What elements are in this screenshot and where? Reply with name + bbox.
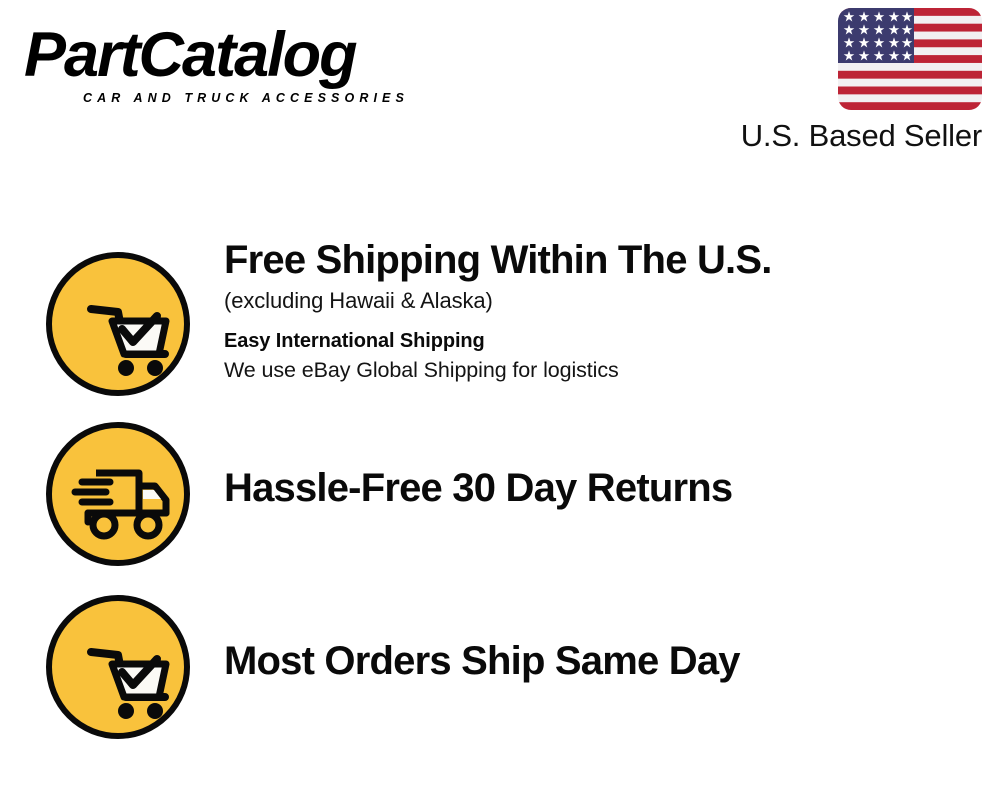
shopping-cart-check-icon [44,250,192,398]
us-flag-icon [838,8,982,110]
feature-note: (excluding Hawaii & Alaska) [224,286,980,316]
feature-title: Hassle-Free 30 Day Returns [224,464,980,512]
feature-detail: We use eBay Global Shipping for logistic… [224,356,980,385]
feature-text: Most Orders Ship Same Day [224,637,980,685]
brand-wordmark: PartCatalog [24,20,356,90]
feature-title: Most Orders Ship Same Day [224,637,980,685]
feature-row: Free Shipping Within The U.S. (excluding… [0,236,1000,406]
seller-badge-label: U.S. Based Seller [712,118,982,154]
shopping-cart-check-icon [44,593,192,741]
feature-subtitle: Easy International Shipping [224,328,980,354]
feature-text: Free Shipping Within The U.S. (excluding… [224,236,980,385]
brand-logo[interactable]: PartCatalog CAR AND TRUCK ACCESSORIES [24,22,494,112]
feature-row: Hassle-Free 30 Day Returns [0,412,1000,577]
delivery-truck-icon [44,420,192,568]
feature-text: Hassle-Free 30 Day Returns [224,464,980,512]
banner-header: PartCatalog CAR AND TRUCK ACCESSORIES [0,0,1000,170]
seller-badge: U.S. Based Seller [712,8,982,154]
brand-tagline: CAR AND TRUCK ACCESSORIES [83,91,409,105]
feature-title: Free Shipping Within The U.S. [224,236,980,284]
feature-row: Most Orders Ship Same Day [0,585,1000,750]
